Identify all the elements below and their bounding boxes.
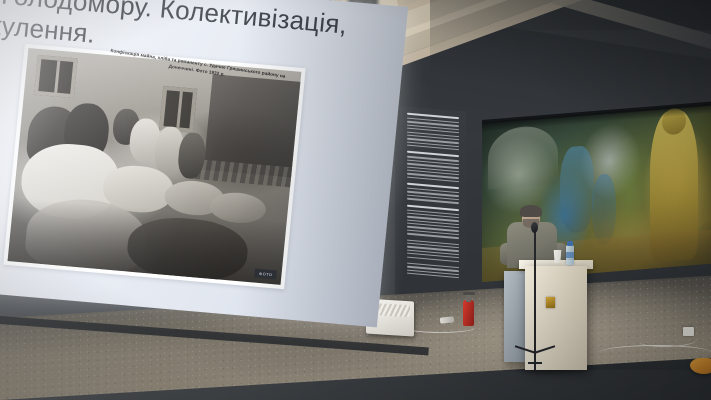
photo-scene: ви Голодомору. Колективізація, уркулення… <box>0 0 711 400</box>
microphone-icon <box>531 222 538 233</box>
floor-cable-2 <box>600 345 711 360</box>
painting-blue-form <box>560 145 594 234</box>
fire-extinguisher-neck <box>466 294 471 302</box>
slide-edge-shadow <box>0 0 408 327</box>
power-outlet <box>683 327 694 336</box>
floor-cable <box>404 322 476 333</box>
bottle-cap <box>567 241 573 246</box>
microphone-stand-leg <box>528 362 542 364</box>
painting-blue-form-2 <box>592 173 616 245</box>
bottle-label <box>566 252 574 258</box>
fire-extinguisher-handle <box>463 292 475 295</box>
podium-emblem-icon <box>546 297 555 308</box>
speaker-hair <box>520 205 542 217</box>
projection-screen: ви Голодомору. Колективізація, уркулення… <box>0 0 408 345</box>
painting-arch-form <box>488 124 558 190</box>
microphone-stand <box>534 226 536 370</box>
